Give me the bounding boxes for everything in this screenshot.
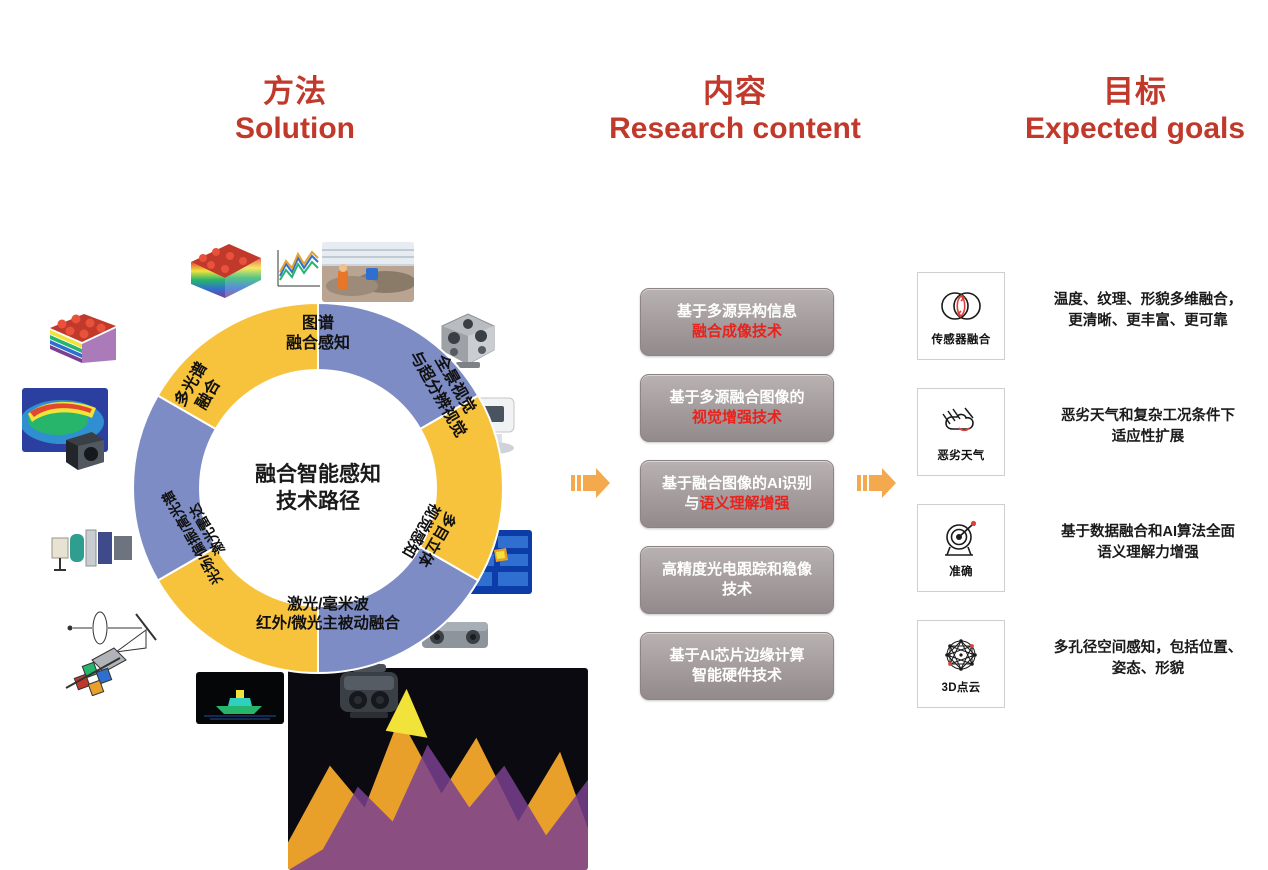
sensor-fusion-icon <box>937 286 985 328</box>
goal-text-1-line1: 恶劣天气和复杂工况条件下 <box>1030 406 1266 427</box>
process-box-1-line1: 基于多源融合图像的 <box>669 388 804 408</box>
goal-text-0: 温度、纹理、形貌多维融合， 更清晰、更丰富、更可靠 <box>1030 290 1266 331</box>
process-box-1[interactable]: 基于多源融合图像的 视觉增强技术 <box>640 374 834 442</box>
column-header-goals-en: Expected goals <box>1000 112 1268 146</box>
column-header-solution: 方法 Solution <box>160 75 430 145</box>
goal-card-2-caption: 准确 <box>949 563 973 579</box>
donut-segment-5 <box>158 303 318 429</box>
donut-segment-2 <box>318 547 478 673</box>
goal-card-2[interactable]: 准确 <box>917 504 1005 592</box>
column-header-content: 内容 Research content <box>600 75 870 145</box>
infrared-camera-thumb <box>58 428 110 474</box>
process-box-2-prefix: 与 <box>684 495 699 512</box>
process-box-3[interactable]: 高精度光电跟踪和稳像 技术 <box>640 546 834 614</box>
goal-text-3-line1: 多孔径空间感知，包括位置、 <box>1030 638 1266 659</box>
donut-center-line-1: 融合智能感知 <box>255 461 381 488</box>
spectral-curve-plot-thumb <box>268 242 324 294</box>
goal-card-3[interactable]: 3D点云 <box>917 620 1005 708</box>
goal-text-1: 恶劣天气和复杂工况条件下 适应性扩展 <box>1030 406 1266 447</box>
column-header-goals-cn: 目标 <box>1000 75 1268 110</box>
donut-center-label: 融合智能感知 技术路径 <box>198 448 438 528</box>
process-box-4[interactable]: 基于AI芯片边缘计算 智能硬件技术 <box>640 632 834 700</box>
goal-card-0[interactable]: 传感器融合 <box>917 272 1005 360</box>
process-box-3-line2: 技术 <box>662 580 812 600</box>
column-header-content-en: Research content <box>600 112 870 146</box>
goal-card-3-caption: 3D点云 <box>942 679 981 695</box>
apple-hyperspectral-stack-thumb <box>44 310 122 366</box>
process-box-3-line1: 高精度光电跟踪和稳像 <box>662 560 812 580</box>
goal-text-0-line2: 更清晰、更丰富、更可靠 <box>1030 311 1266 332</box>
process-box-0-line1: 基于多源异构信息 <box>677 302 797 322</box>
arrow-solution-to-content <box>570 462 612 504</box>
arrow-content-to-goals <box>856 462 898 504</box>
bad-weather-icon <box>937 402 985 444</box>
process-box-2-line2: 语义理解增强 <box>699 495 789 512</box>
target-accuracy-icon <box>937 518 985 560</box>
process-box-0[interactable]: 基于多源异构信息 融合成像技术 <box>640 288 834 356</box>
goal-text-2-line2: 语义理解力增强 <box>1030 543 1266 564</box>
point-cloud-icon <box>937 634 985 676</box>
goal-text-1-line2: 适应性扩展 <box>1030 427 1266 448</box>
goal-card-1[interactable]: 恶劣天气 <box>917 388 1005 476</box>
process-box-0-line2: 融合成像技术 <box>677 322 797 342</box>
column-header-goals: 目标 Expected goals <box>1000 75 1268 145</box>
process-box-4-line2: 智能硬件技术 <box>669 666 804 686</box>
process-box-2[interactable]: 基于融合图像的AI识别 与语义理解增强 <box>640 460 834 528</box>
goal-text-2: 基于数据融合和AI算法全面 语义理解力增强 <box>1030 522 1266 563</box>
column-header-solution-en: Solution <box>160 112 430 146</box>
donut-center-line-2: 技术路径 <box>276 488 360 515</box>
column-header-content-cn: 内容 <box>600 75 870 110</box>
goal-card-0-caption: 传感器融合 <box>932 331 991 347</box>
goal-text-3: 多孔径空间感知，包括位置、 姿态、形貌 <box>1030 638 1266 679</box>
column-header-solution-cn: 方法 <box>160 75 430 110</box>
process-box-2-line1: 基于融合图像的AI识别 <box>662 474 812 494</box>
goal-text-3-line2: 姿态、形貌 <box>1030 659 1266 680</box>
goal-text-0-line1: 温度、纹理、形貌多维融合， <box>1030 290 1266 311</box>
diagram-canvas: 方法 Solution 内容 Research content 目标 Expec… <box>0 0 1268 866</box>
goal-card-1-caption: 恶劣天气 <box>937 447 984 463</box>
technology-roadmap-donut: 图谱 融合感知 全景视觉 与超分辨视觉 多目立体 视觉感知 激光/毫米波 红外/… <box>118 288 518 688</box>
process-box-1-line2: 视觉增强技术 <box>669 408 804 428</box>
process-box-4-line1: 基于AI芯片边缘计算 <box>669 646 804 666</box>
goal-text-2-line1: 基于数据融合和AI算法全面 <box>1030 522 1266 543</box>
